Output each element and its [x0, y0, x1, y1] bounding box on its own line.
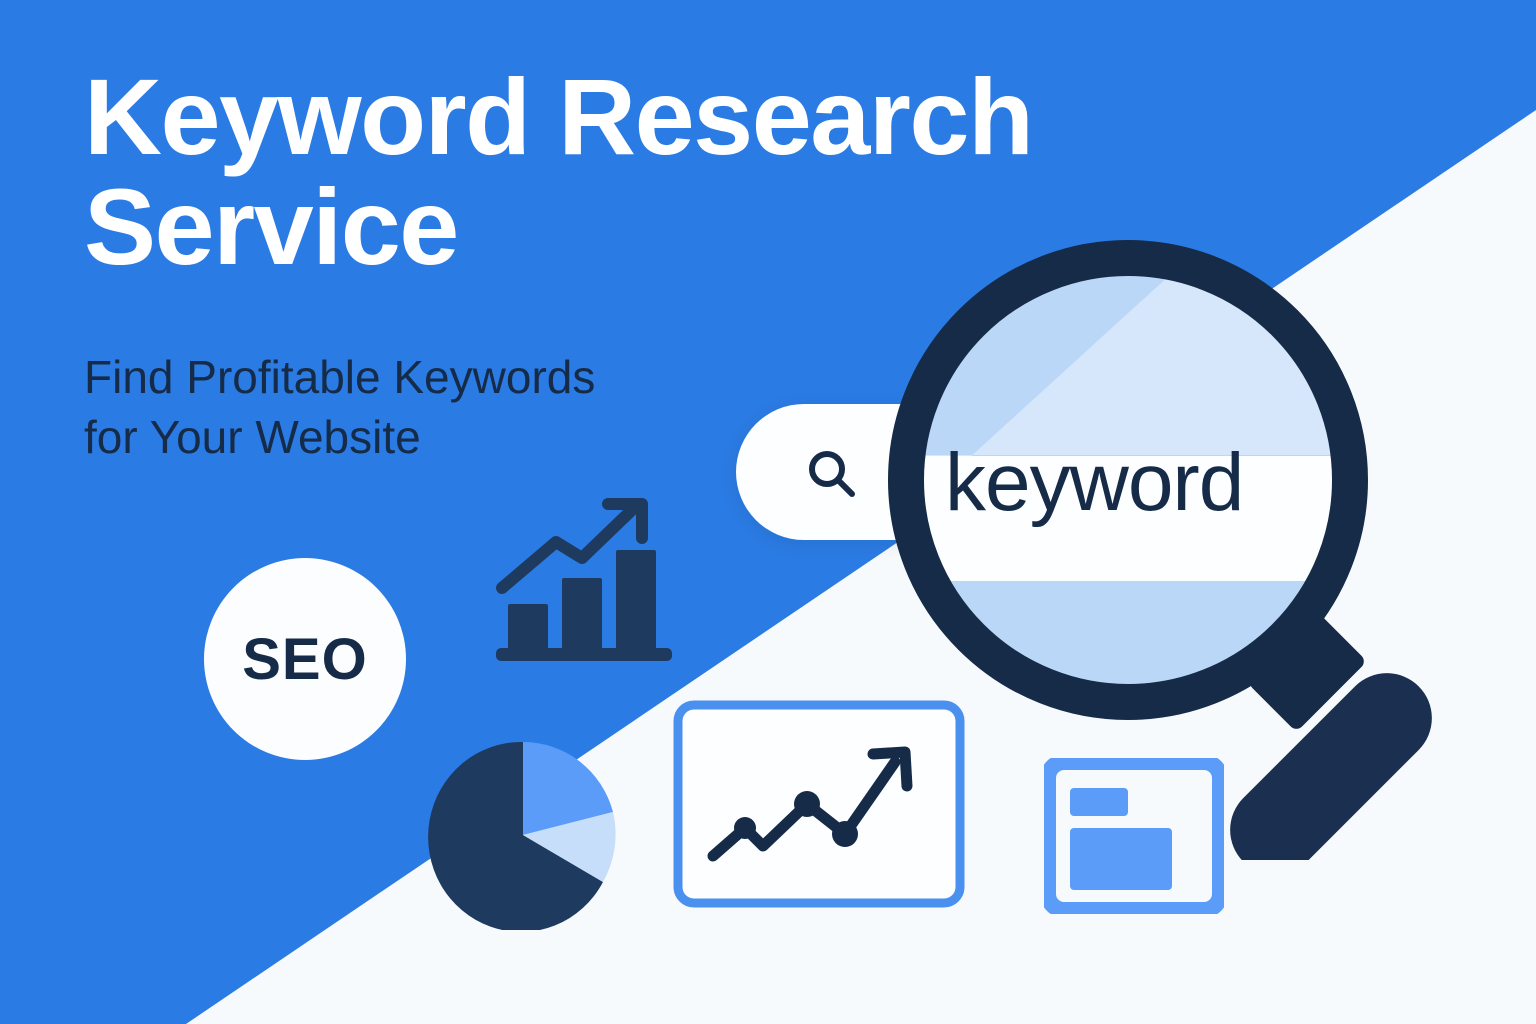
bar-chart-icon	[496, 482, 672, 668]
search-icon	[806, 448, 858, 500]
banner-canvas: Keyword Research Service Find Profitable…	[0, 0, 1536, 1024]
headline-block: Keyword Research Service	[84, 62, 1144, 282]
seo-badge: SEO	[204, 558, 406, 760]
browser-window-icon	[1044, 758, 1224, 914]
line-chart-icon	[673, 700, 965, 908]
pie-chart-icon	[427, 740, 619, 930]
page-title: Keyword Research Service	[84, 62, 1144, 282]
page-subtitle: Find Profitable Keywords for Your Websit…	[84, 348, 784, 468]
search-input[interactable]: keyword	[941, 434, 1198, 514]
seo-badge-label: SEO	[242, 626, 368, 693]
search-submit-button[interactable]	[1242, 414, 1358, 530]
search-bar[interactable]: keyword	[736, 404, 1356, 540]
